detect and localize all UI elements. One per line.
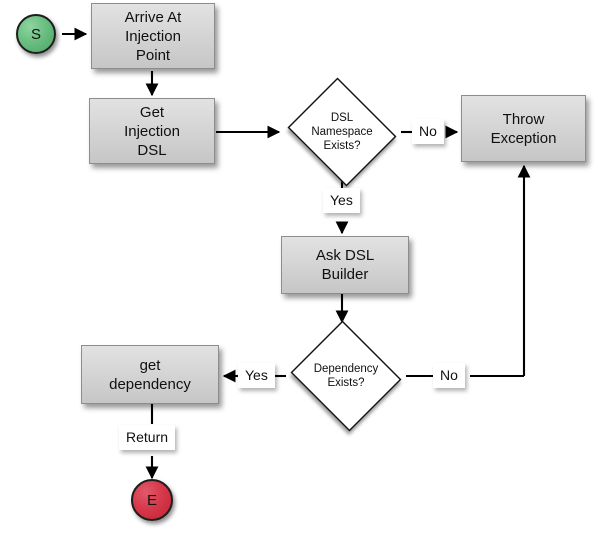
node-get-injection-dsl[interactable]: Get Injection DSL [89,98,215,164]
edge-label-text: No [419,123,437,139]
node-label: Dependency Exists? [287,324,405,428]
edge-label-text: Return [126,429,168,445]
node-label: Throw Exception [487,110,561,148]
node-throw-exception[interactable]: Throw Exception [461,95,586,162]
node-arrive-at-injection-point[interactable]: Arrive At Injection Point [91,3,215,69]
node-label: get dependency [105,356,195,394]
edge-label-dependency-yes: Yes [238,363,275,388]
edge-label-text: No [440,367,458,383]
edge-label-text: Yes [245,367,268,383]
edge-label-namespace-yes: Yes [323,188,360,213]
edge-label-text: Yes [330,192,353,208]
edge-label-dependency-no: No [433,363,465,388]
node-get-dependency[interactable]: get dependency [81,345,219,404]
node-label: Get Injection DSL [120,103,184,160]
node-label: DSL Namespace Exists? [283,82,401,182]
decision-dependency-exists[interactable]: Dependency Exists? [287,324,405,428]
end-node-label: E [147,492,157,509]
start-node-label: S [31,26,41,43]
flowchart-canvas: S Arrive At Injection Point Get Injectio… [0,0,600,545]
decision-dsl-namespace-exists[interactable]: DSL Namespace Exists? [283,82,401,182]
node-label: Ask DSL Builder [312,246,378,284]
node-label: Arrive At Injection Point [121,8,186,65]
node-ask-dsl-builder[interactable]: Ask DSL Builder [281,236,409,294]
end-node[interactable]: E [131,479,173,521]
start-node[interactable]: S [16,14,56,54]
edge-label-namespace-no: No [412,119,444,144]
edge-label-return: Return [119,425,175,450]
